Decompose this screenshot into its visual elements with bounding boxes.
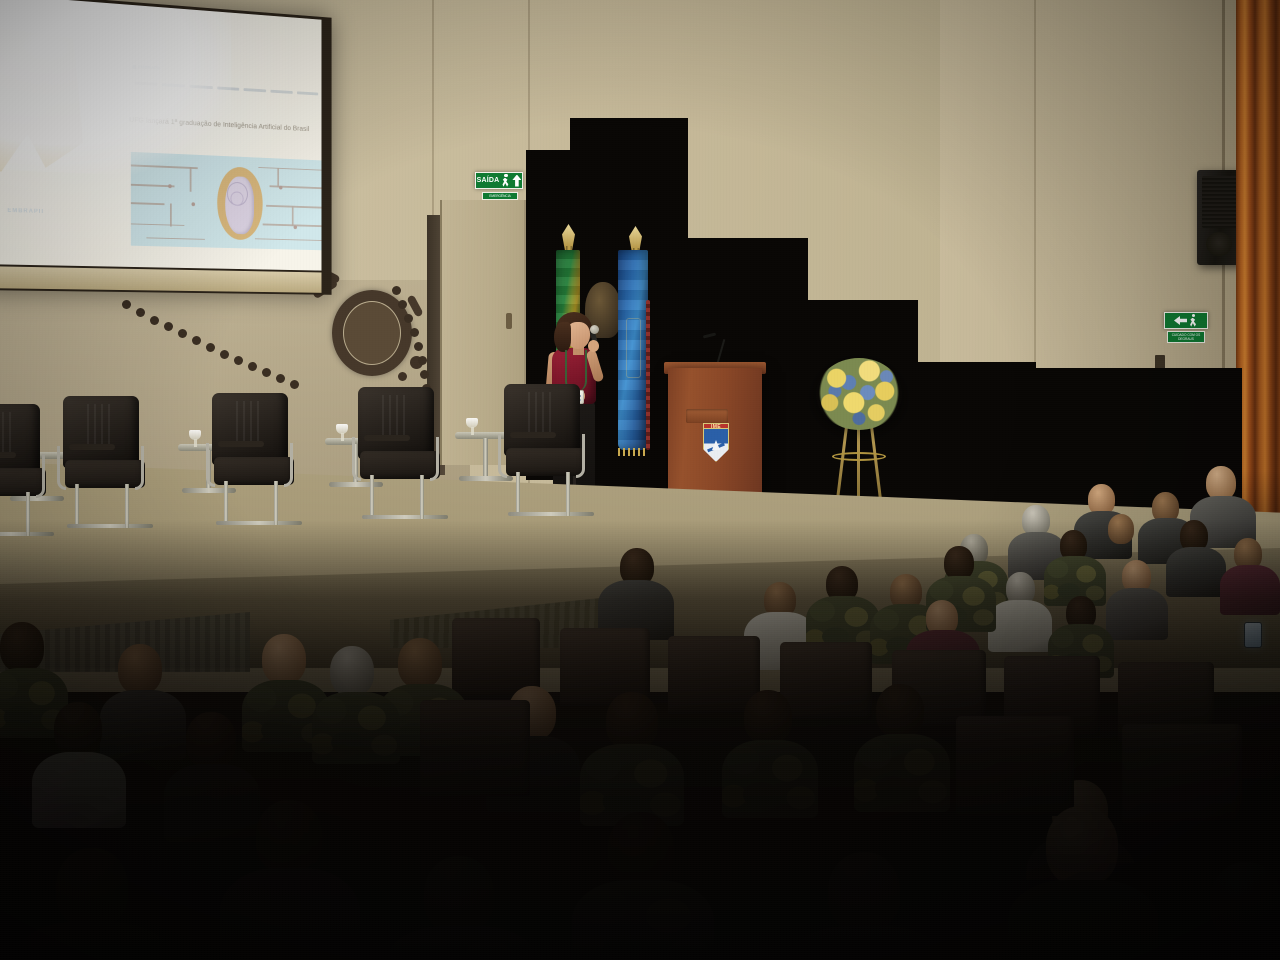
audience-head [744, 690, 792, 744]
exit-sign-right-sub: CUIDADO COM OS DEGRAUS [1167, 331, 1205, 343]
exit-sign-stage: SAÍDA [475, 172, 523, 189]
screen-bottom-bar [0, 266, 322, 293]
audience-head [1210, 862, 1280, 942]
audience-head [54, 702, 102, 756]
audience-head [608, 812, 674, 886]
auditorium-seat[interactable] [780, 642, 872, 720]
audience-body [790, 926, 942, 960]
slide-navigation-bar [134, 81, 318, 95]
smartphone-screen[interactable] [1244, 622, 1262, 648]
audience-body [100, 690, 186, 760]
audience-body [220, 868, 360, 960]
audience-body [164, 764, 260, 842]
projection-hotspot-shape [0, 25, 131, 183]
audience-head [186, 712, 236, 768]
drinking-glass [189, 430, 201, 447]
floral-arrangement [816, 358, 902, 430]
slide-embrapii-logo: EMBRAPII [7, 208, 44, 215]
audience-head [606, 692, 658, 750]
audience-body-camo [572, 880, 714, 960]
wall-seam [1034, 0, 1036, 560]
audience-body-camo [312, 692, 400, 764]
audience-body [1166, 547, 1226, 597]
slide-banner-image [131, 152, 322, 251]
drinking-glass [336, 424, 348, 441]
arrow-up-icon [512, 175, 521, 187]
flower-stand-ring [832, 452, 886, 461]
projection-screen: EMBRAPII UFG lançará 1ª graduação de Int… [0, 0, 322, 271]
wall-plate [1130, 437, 1141, 452]
auditorium-seat[interactable] [956, 716, 1074, 816]
slide-site-logo: EMBRAPII [133, 64, 160, 71]
auditorium-photo: EMBRAPII UFG lançará 1ª graduação de Int… [0, 0, 1280, 960]
audience-head [398, 638, 442, 688]
audience-head [0, 622, 44, 672]
auditorium-seat[interactable] [1122, 724, 1242, 824]
auditorium-seat[interactable] [420, 700, 530, 796]
audience-body [32, 752, 126, 828]
audience-body [1008, 880, 1158, 960]
flag-cord [646, 300, 650, 450]
audience-head [56, 848, 128, 928]
podium-panel [686, 409, 728, 423]
running-person-icon [1189, 314, 1198, 327]
audience-body-camo [388, 926, 536, 960]
audience-head [118, 644, 162, 694]
audience-body-camo [854, 734, 950, 812]
arrow-left-icon [1174, 316, 1187, 325]
auditorium-seat[interactable] [452, 618, 540, 696]
institutional-ceremonial-flag [618, 250, 648, 450]
audience-body-camo [722, 740, 818, 818]
audience-head [944, 546, 974, 580]
running-person-icon [501, 174, 510, 187]
audience-head [330, 646, 374, 696]
audience-head [1206, 466, 1236, 500]
audience-head [828, 852, 900, 932]
projection-screen-frame: EMBRAPII UFG lançará 1ª graduação de Int… [0, 0, 332, 295]
microphone-head [590, 325, 599, 334]
audience-head [876, 684, 924, 738]
audience-head [1108, 514, 1134, 544]
audience-body [988, 600, 1052, 652]
door-handle[interactable] [506, 313, 512, 329]
audience-head [424, 856, 494, 934]
audience-head [262, 634, 306, 684]
wall-plate [1155, 355, 1165, 371]
exit-sign-stage-sub: EMERGÊNCIA [482, 192, 518, 200]
audience-head [256, 800, 322, 874]
audience-body [1220, 565, 1280, 615]
ime-crest: IME [703, 428, 729, 462]
slide-headline: UFG lançará 1ª graduação de Inteligência… [129, 116, 321, 134]
audience-body [1106, 588, 1168, 640]
audience-body [16, 922, 170, 960]
exit-sign-right [1164, 312, 1208, 329]
audience-head [1046, 806, 1118, 886]
right-wall-panel [940, 0, 1250, 560]
drinking-glass [466, 418, 478, 435]
